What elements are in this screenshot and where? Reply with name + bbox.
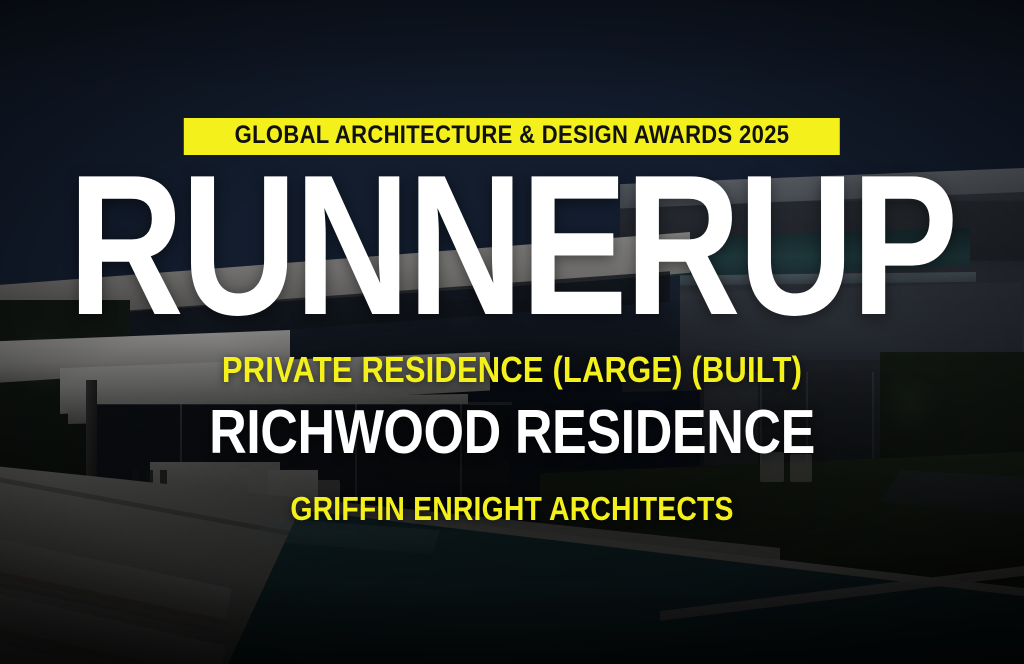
award-category-label: PRIVATE RESIDENCE (LARGE) (BUILT): [222, 352, 802, 388]
award-announcement-graphic: GLOBAL ARCHITECTURE & DESIGN AWARDS 2025…: [0, 0, 1024, 664]
award-text-layer: GLOBAL ARCHITECTURE & DESIGN AWARDS 2025…: [0, 0, 1024, 664]
award-result-title: RUNNERUP: [68, 160, 956, 332]
project-name: RICHWOOD RESIDENCE: [209, 402, 815, 464]
architecture-firm-name: GRIFFIN ENRIGHT ARCHITECTS: [290, 492, 733, 525]
